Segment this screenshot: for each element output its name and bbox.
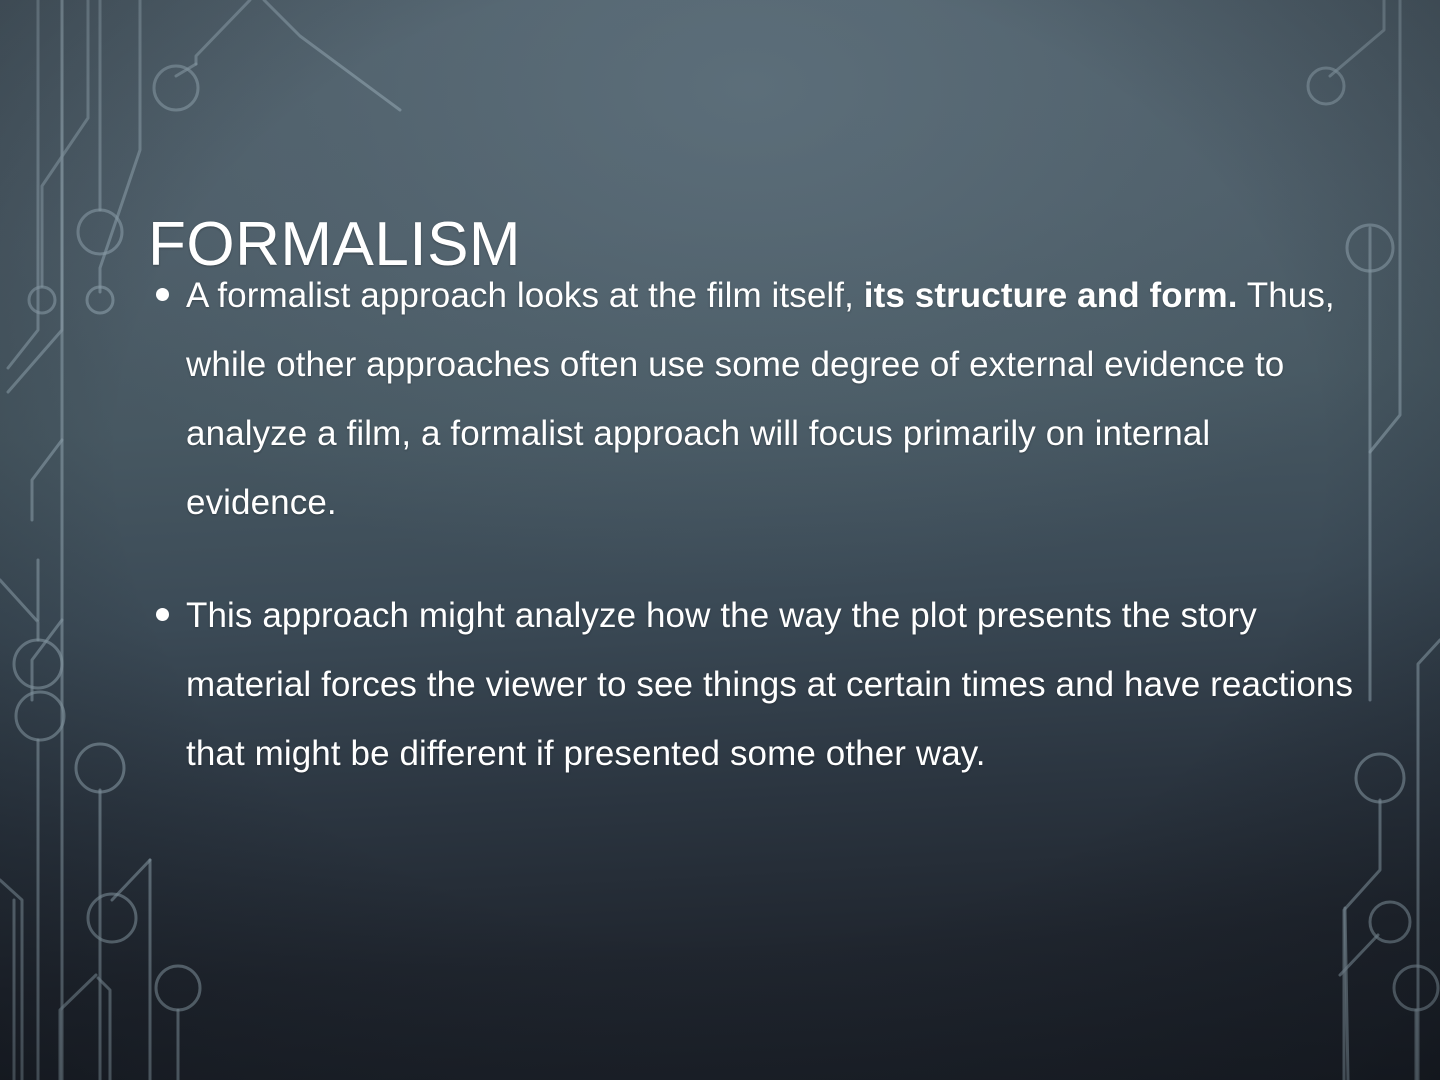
slide-content: FORMALISM A formalist approach looks at …	[0, 0, 1440, 1080]
bullet-text-2: This approach might analyze how the way …	[186, 582, 1365, 789]
bullet-point-icon	[156, 608, 169, 621]
list-item: A formalist approach looks at the film i…	[150, 262, 1365, 538]
bullet-point-icon	[156, 288, 169, 301]
list-item: This approach might analyze how the way …	[150, 582, 1365, 789]
bullet-text-1: A formalist approach looks at the film i…	[186, 262, 1365, 538]
presentation-slide: FORMALISM A formalist approach looks at …	[0, 0, 1440, 1080]
bullet-list: A formalist approach looks at the film i…	[150, 262, 1365, 789]
